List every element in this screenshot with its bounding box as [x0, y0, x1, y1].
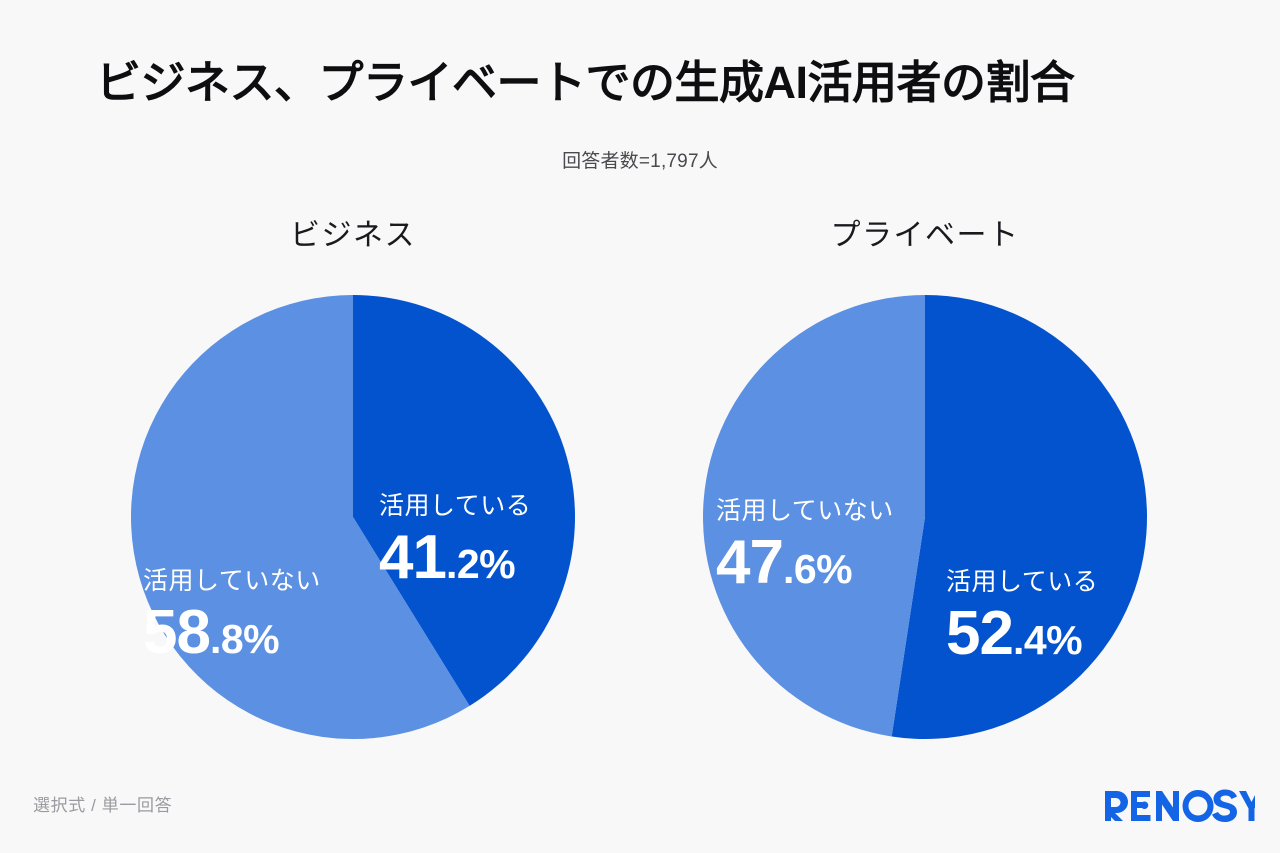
renosy-logo-icon — [1105, 789, 1255, 823]
pie-slice-private-used — [892, 295, 1147, 739]
pie-chart-business: 活用している 41.2% 活用していない 58.8% — [121, 285, 585, 749]
chart-title-private: プライベート — [690, 210, 1160, 254]
pie-svg-business — [121, 285, 585, 749]
pie-chart-private: 活用していない 47.6% 活用している 52.4% — [693, 285, 1157, 749]
respondent-count-subtitle: 回答者数=1,797人 — [0, 146, 1280, 173]
page-title: ビジネス、プライベートでの生成AI活用者の割合 — [96, 58, 1075, 108]
chart-panel-business: ビジネス 活用している 41.2% 活用していない 58.8% — [118, 210, 588, 770]
pie-slice-private-notused — [703, 295, 925, 736]
chart-title-business: ビジネス — [118, 210, 588, 254]
renosy-logo — [1105, 789, 1255, 823]
survey-method-note: 選択式 / 単一回答 — [33, 791, 172, 816]
infographic-canvas: ビジネス、プライベートでの生成AI活用者の割合 回答者数=1,797人 ビジネス… — [0, 0, 1280, 853]
chart-panel-private: プライベート 活用していない 47.6% 活用している 52.4% — [690, 210, 1160, 770]
pie-svg-private — [693, 285, 1157, 749]
